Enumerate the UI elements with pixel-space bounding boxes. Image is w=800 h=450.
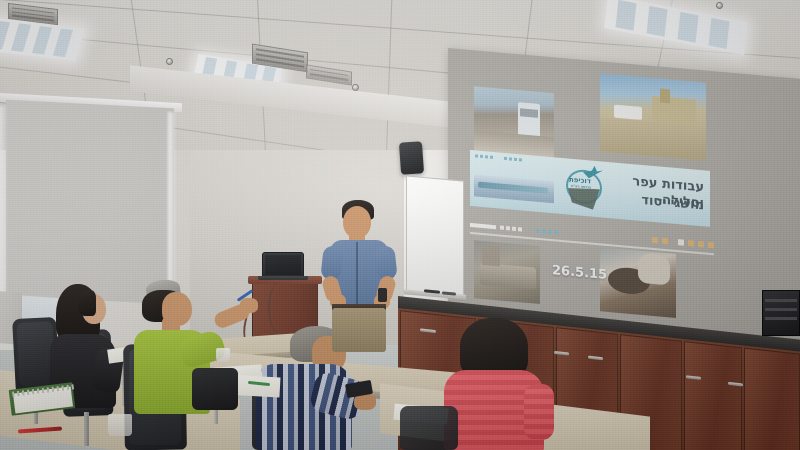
- chair-back-5[interactable]: [400, 406, 458, 450]
- cabinet-door-5[interactable]: [684, 341, 742, 450]
- presenter-clicker[interactable]: [378, 288, 387, 302]
- window-roller-blind: [6, 100, 174, 305]
- presenter: [316, 200, 406, 350]
- wall-speaker: [399, 141, 424, 175]
- slide-sq-c5: [698, 241, 704, 248]
- woman-coral-arm: [524, 384, 554, 440]
- slide-band-marker-2: [480, 155, 483, 158]
- slide-sq-a1: [500, 226, 504, 230]
- slide-band-marker-8: [519, 158, 522, 161]
- projection-screen: דוכיפת הנדסה בע"מ עבודות עפר וסלילה- מוש…: [448, 48, 800, 351]
- presenter-pants: [332, 308, 386, 352]
- black-bag-under-table[interactable]: [192, 368, 238, 410]
- cabinet-door-6[interactable]: [744, 348, 800, 450]
- whiteboard: [406, 175, 464, 296]
- slide-sq-a4: [518, 227, 522, 231]
- sprinkler-head-3: [716, 2, 723, 9]
- man-green-hand: [240, 298, 258, 313]
- slide-sq-c6: [708, 242, 714, 249]
- slide-sq-b4: [554, 230, 558, 234]
- cup-right-table[interactable]: [216, 348, 230, 362]
- slide-photo-road-grading: [474, 86, 554, 157]
- slide-sq-c2: [662, 238, 668, 245]
- logo-dune-shape: [568, 186, 600, 210]
- slide-band-marker-6: [509, 157, 512, 160]
- slide-band-marker-4: [490, 156, 493, 159]
- sprinkler-head-1: [166, 58, 173, 65]
- projected-slide: דוכיפת הנדסה בע"מ עבודות עפר וסלילה- מוש…: [448, 48, 800, 351]
- slide-sq-b2: [542, 229, 546, 233]
- slide-band-marker-3: [485, 155, 488, 158]
- slide-sq-a2: [506, 226, 510, 230]
- slide-band-marker-7: [514, 158, 517, 161]
- slide-photo-roller-compactor: [474, 240, 540, 304]
- slide-sq-a3: [512, 227, 516, 231]
- chair-post-2: [84, 412, 89, 446]
- window-light-leak-left: [0, 106, 6, 296]
- slide-sq-b1: [536, 229, 540, 233]
- slide-sq-c3: [678, 239, 684, 246]
- slide-date: 26.5.15: [552, 263, 607, 283]
- woman-black-hair-front: [78, 290, 96, 316]
- av-equipment-rack: [762, 290, 800, 336]
- slide-sq-b3: [548, 230, 552, 234]
- laptop-lid: [262, 252, 304, 278]
- attendee-woman-coral: [440, 318, 560, 450]
- slide-rule-bar: [470, 223, 496, 229]
- slide-sq-c1: [652, 237, 658, 244]
- slide-band-marker-5: [504, 157, 507, 160]
- classroom-photo: דוכיפת הנדסה בע"מ עבודות עפר וסלילה- מוש…: [0, 0, 800, 450]
- slide-sq-c4: [688, 240, 694, 247]
- presenter-shirt-placket: [356, 242, 358, 304]
- slide-photo-earthworks: [600, 73, 706, 160]
- slide-photo-soil-sample: [600, 247, 676, 318]
- window-light-leak-right: [168, 112, 175, 296]
- laptop-screen: [265, 255, 301, 275]
- clear-cup[interactable]: [108, 414, 132, 436]
- slide-band-marker-1: [475, 154, 478, 157]
